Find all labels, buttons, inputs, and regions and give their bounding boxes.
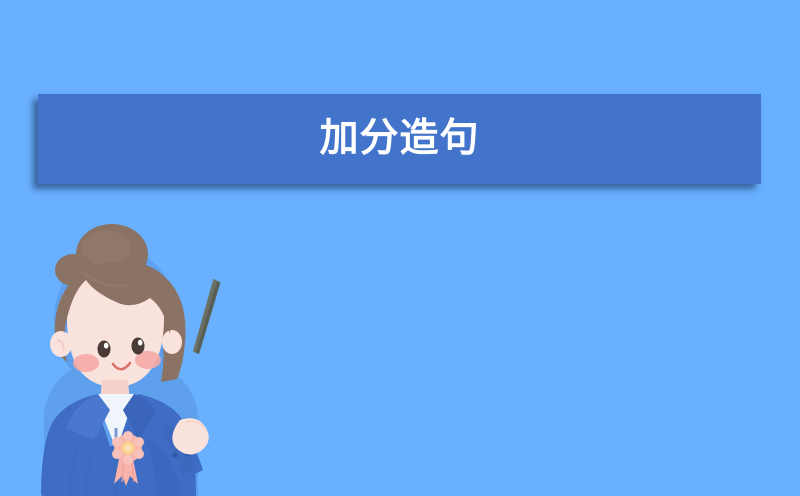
ear-right xyxy=(162,330,182,354)
teacher-illustration-svg xyxy=(20,222,250,496)
page-title: 加分造句 xyxy=(319,119,479,158)
cheek-left xyxy=(73,354,99,372)
pointer-stick-icon xyxy=(193,279,221,354)
eye-left xyxy=(98,341,111,358)
eye-right xyxy=(132,338,145,355)
slide-canvas: 加分造句 xyxy=(0,0,800,496)
title-banner: 加分造句 xyxy=(38,94,761,184)
hand xyxy=(172,418,208,454)
teacher-illustration xyxy=(20,222,250,496)
